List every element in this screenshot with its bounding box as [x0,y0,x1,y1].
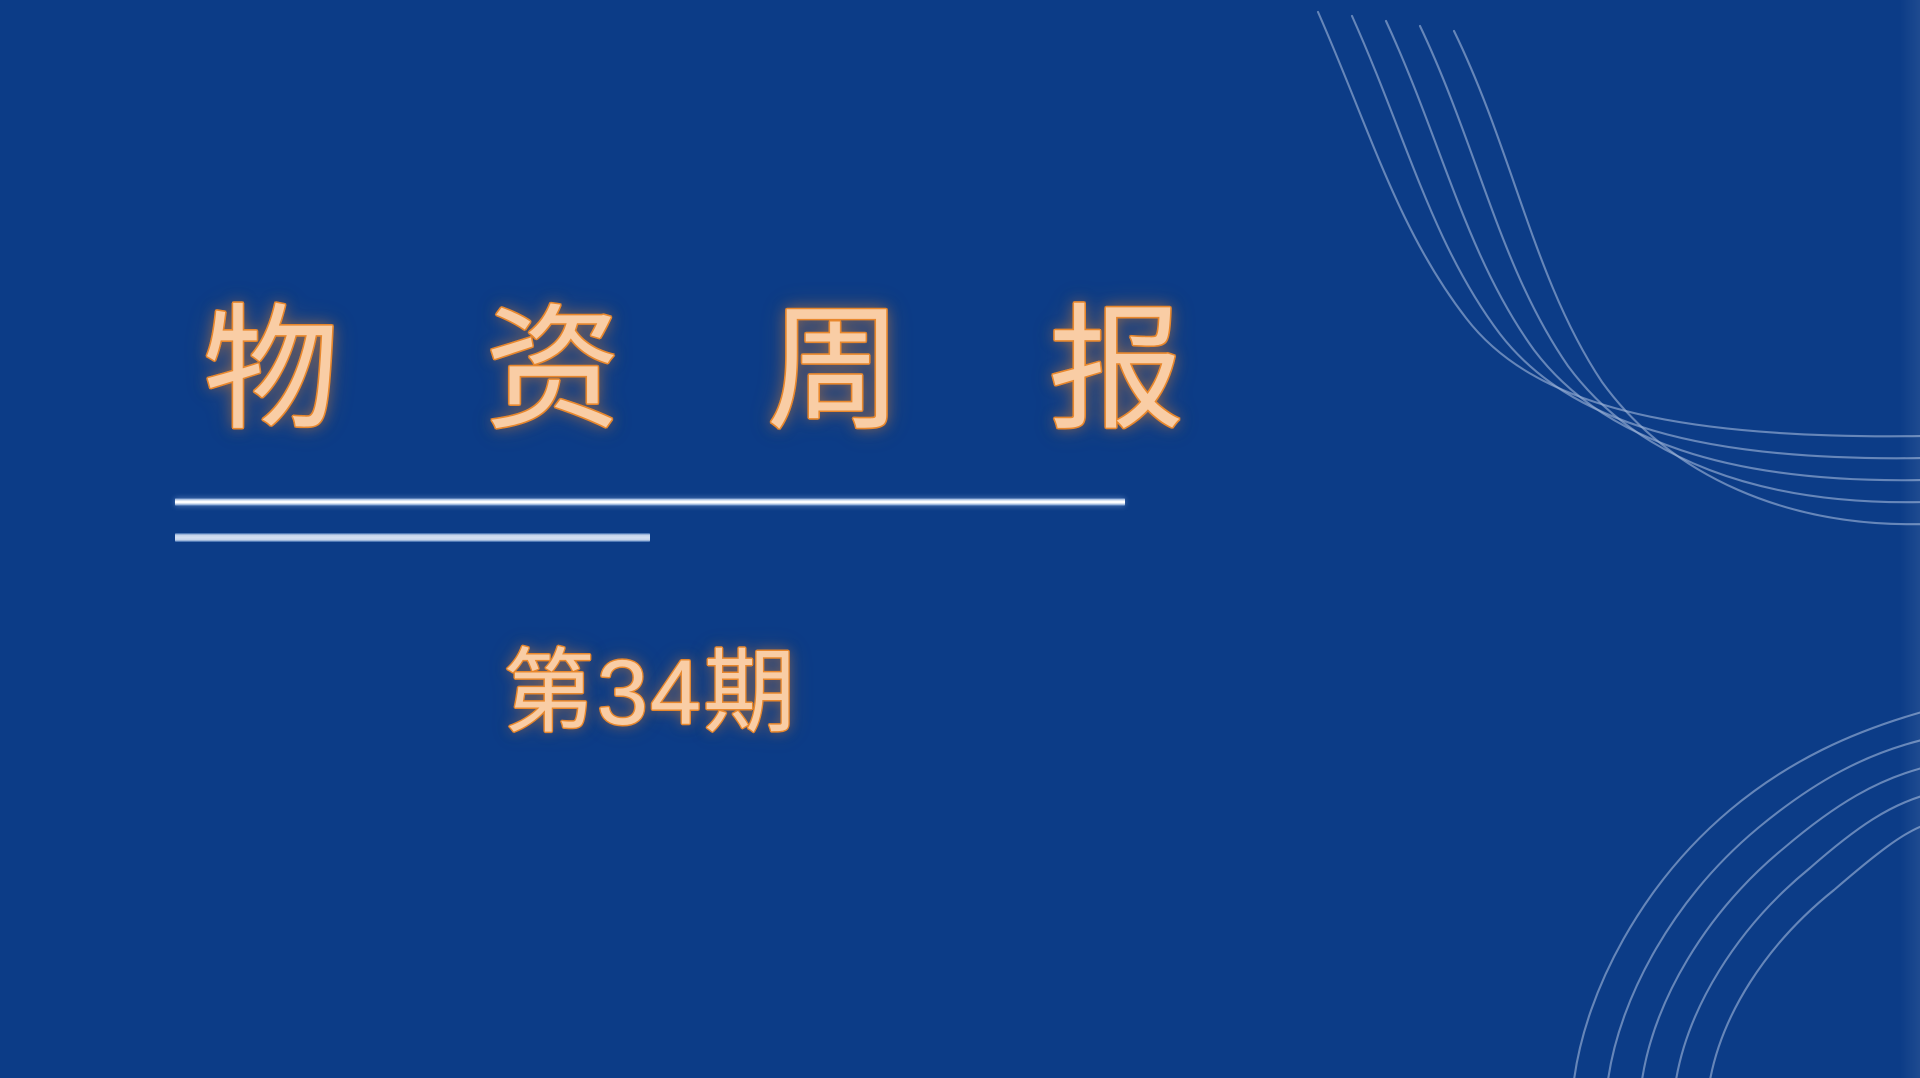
swoosh-line [1676,796,1920,1078]
swoosh-line [1454,31,1920,524]
title-underline-group [175,498,1275,542]
title-underline-primary [175,498,1125,506]
issue-number-subtitle: 第34期 [175,636,1125,751]
swoosh-line [1710,826,1920,1078]
bottom-right-swoosh-icon [1260,598,1920,1078]
top-right-swoosh-decoration [1280,0,1920,560]
swoosh-line [1420,26,1920,502]
title-block: 物 资 周 报 [175,282,1275,459]
swoosh-line [1352,16,1920,458]
page-title: 物 资 周 报 [175,282,1275,459]
swoosh-line [1574,712,1920,1078]
title-underline-secondary [175,533,650,542]
bottom-right-swoosh-decoration [1260,598,1920,1078]
swoosh-line [1318,12,1920,436]
title-slide: 物 资 周 报 第34期 [0,0,1920,1078]
right-edge-band [1900,0,1920,1078]
swoosh-line [1608,740,1920,1078]
top-right-swoosh-icon [1280,0,1920,560]
swoosh-line [1642,768,1920,1078]
swoosh-line [1386,21,1920,480]
